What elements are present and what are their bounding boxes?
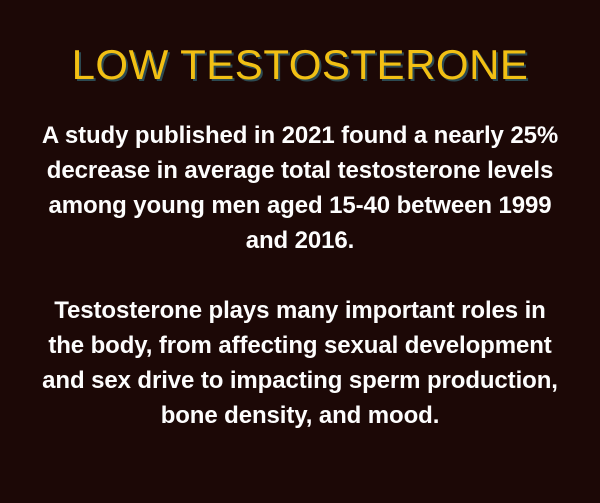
- infographic-card: LOW TESTOSTERONE A study published in 20…: [0, 0, 600, 503]
- body-text-block: A study published in 2021 found a nearly…: [36, 118, 564, 433]
- paragraph-testosterone-roles: Testosterone plays many important roles …: [36, 293, 564, 433]
- paragraph-study-finding: A study published in 2021 found a nearly…: [36, 118, 564, 258]
- page-title: LOW TESTOSTERONE: [0, 44, 600, 86]
